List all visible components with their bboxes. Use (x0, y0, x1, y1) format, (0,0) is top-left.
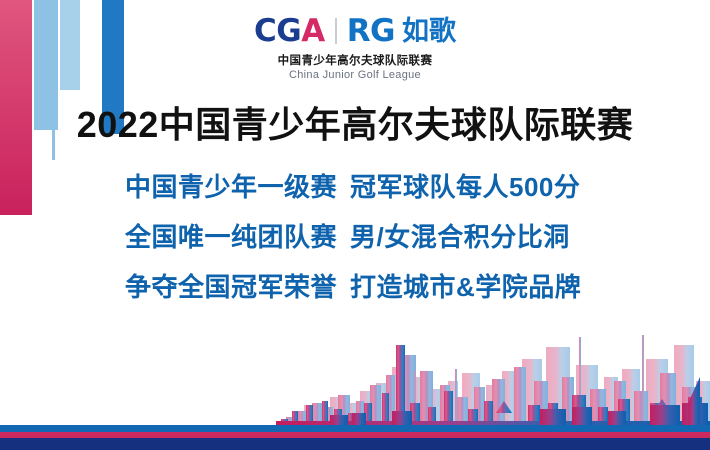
logo-row: CGA RG 如歌 (254, 16, 456, 46)
page-title: 2022中国青少年高尔夫球队际联赛 (0, 96, 710, 148)
logo-subtitle-english: China Junior Golf League (289, 69, 421, 81)
stripe-navy (0, 438, 710, 450)
cga-logo-text: CGA (254, 16, 325, 46)
stripe-blue (0, 425, 710, 432)
cga-cg-letters: CG (254, 13, 301, 49)
logo-block: CGA RG 如歌 中国青少年高尔夫球队际联赛 China Junior Gol… (0, 16, 710, 81)
logo-subtitle-chinese: 中国青少年高尔夫球队际联赛 (278, 52, 433, 68)
city-skyline-svg (0, 285, 710, 425)
tagline-right: 男/女混合积分比洞 (350, 217, 585, 254)
logo-divider (335, 18, 337, 44)
cga-a-letter: A (301, 13, 325, 49)
tagline-left: 中国青少年一级赛 (125, 167, 350, 204)
tagline-right: 冠军球队每人500分 (350, 167, 585, 204)
rg-logo-chinese: 如歌 (402, 16, 456, 46)
tagline-left: 全国唯一纯团队赛 (125, 217, 350, 254)
city-skyline (0, 285, 710, 425)
tagline-row: 中国青少年一级赛 冠军球队每人500分 (125, 160, 585, 210)
tagline-row: 全国唯一纯团队赛 男/女混合积分比洞 (125, 210, 585, 260)
rg-logo-text: RG (347, 16, 395, 46)
rg-logo: RG 如歌 (347, 16, 456, 46)
